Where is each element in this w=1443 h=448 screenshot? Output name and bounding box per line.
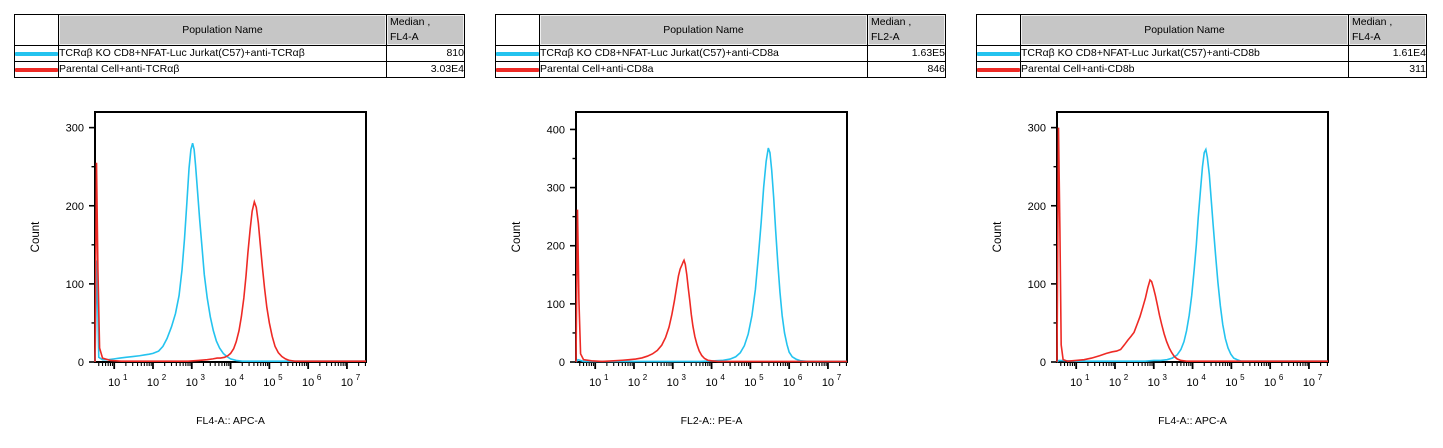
legend-table-container-2: Population Name Median , FL2-A TCRαβ KO … [495, 14, 946, 78]
color-swatch-red [977, 68, 1020, 72]
y-axis-title: Count [511, 221, 523, 252]
legend-median-value: 1.61E4 [1349, 46, 1427, 62]
x-axis-tick-exponent: 4 [720, 373, 725, 382]
histogram-trace [95, 163, 366, 362]
x-axis-tick-exponent: 7 [356, 373, 361, 382]
legend-header-median: Median , FL4-A [1349, 15, 1427, 46]
x-axis-tick-exponent: 2 [162, 373, 167, 382]
legend-row-red: Parental Cell+anti-CD8a 846 [496, 62, 946, 78]
legend-swatch-cell [15, 62, 59, 78]
x-axis-tick-label: 10 [302, 377, 314, 389]
legend-header-population: Population Name [59, 15, 387, 46]
legend-swatch-cell [15, 46, 59, 62]
color-swatch-cyan [977, 52, 1020, 56]
histogram-trace [576, 148, 847, 362]
x-axis-tick-exponent: 3 [682, 373, 687, 382]
plot-frame [1057, 112, 1328, 362]
x-axis-tick-exponent: 5 [1240, 373, 1245, 382]
y-axis-tick-label: 200 [547, 241, 565, 253]
histogram-svg-2: 0100200300400101102103104105106107CountF… [481, 104, 962, 448]
legend-header-row: Population Name Median , FL4-A [15, 15, 465, 46]
legend-population-name: Parental Cell+anti-CD8b [1021, 62, 1349, 78]
median-header-line2: FL2-A [871, 30, 945, 45]
legend-median-value: 846 [868, 62, 946, 78]
median-header-line1: Median , [1352, 16, 1392, 28]
y-axis-tick-label: 0 [78, 357, 84, 369]
y-axis-tick-label: 0 [559, 357, 565, 369]
x-axis-tick-exponent: 5 [759, 373, 764, 382]
legend-median-value: 1.63E5 [868, 46, 946, 62]
histogram-svg-3: 0100200300101102103104105106107CountFL4-… [962, 104, 1443, 448]
plot-frame [95, 112, 366, 362]
plot-area-2: 0100200300400101102103104105106107CountF… [481, 104, 962, 448]
histogram-trace [576, 210, 847, 362]
y-axis-tick-label: 100 [547, 299, 565, 311]
x-axis-tick-label: 10 [1186, 377, 1198, 389]
median-header-line2: FL4-A [390, 30, 464, 45]
color-swatch-red [15, 68, 58, 72]
legend-row-red: Parental Cell+anti-TCRαβ 3.03E4 [15, 62, 465, 78]
legend-header-population: Population Name [540, 15, 868, 46]
color-swatch-cyan [496, 52, 539, 56]
flow-cytometry-figure: Population Name Median , FL4-A TCRαβ KO … [0, 0, 1443, 448]
histogram-svg-1: 0100200300101102103104105106107CountFL4-… [0, 104, 481, 448]
x-axis-tick-label: 10 [1109, 377, 1121, 389]
x-axis-title: FL4-A:: APC-A [1158, 415, 1227, 427]
legend-median-value: 810 [387, 46, 465, 62]
legend-header-swatch [496, 15, 540, 46]
x-axis-tick-label: 10 [589, 377, 601, 389]
x-axis-tick-label: 10 [341, 377, 353, 389]
x-axis-tick-exponent: 2 [643, 373, 648, 382]
x-axis-tick-label: 10 [822, 377, 834, 389]
x-axis-tick-exponent: 3 [1163, 373, 1168, 382]
y-axis-tick-label: 300 [66, 123, 84, 135]
legend-table-1: Population Name Median , FL4-A TCRαβ KO … [14, 14, 465, 78]
x-axis-tick-exponent: 1 [604, 373, 609, 382]
x-axis-tick-label: 10 [1070, 377, 1082, 389]
y-axis-tick-label: 300 [547, 183, 565, 195]
legend-header-median: Median , FL4-A [387, 15, 465, 46]
x-axis-tick-label: 10 [263, 377, 275, 389]
legend-header-median: Median , FL2-A [868, 15, 946, 46]
legend-row-cyan: TCRαβ KO CD8+NFAT-Luc Jurkat(C57)+anti-T… [15, 46, 465, 62]
x-axis-tick-label: 10 [1225, 377, 1237, 389]
legend-table-container-1: Population Name Median , FL4-A TCRαβ KO … [14, 14, 465, 78]
legend-swatch-cell [496, 46, 540, 62]
x-axis-tick-exponent: 7 [837, 373, 842, 382]
legend-row-cyan: TCRαβ KO CD8+NFAT-Luc Jurkat(C57)+anti-C… [977, 46, 1427, 62]
y-axis-tick-label: 400 [547, 124, 565, 136]
median-header-line1: Median , [390, 16, 430, 28]
histogram-trace [1057, 128, 1328, 362]
y-axis-tick-label: 200 [1028, 201, 1046, 213]
x-axis-title: FL2-A:: PE-A [681, 415, 743, 427]
legend-swatch-cell [496, 62, 540, 78]
legend-population-name: TCRαβ KO CD8+NFAT-Luc Jurkat(C57)+anti-T… [59, 46, 387, 62]
y-axis-tick-label: 0 [1040, 357, 1046, 369]
x-axis-tick-exponent: 3 [201, 373, 206, 382]
legend-row-cyan: TCRαβ KO CD8+NFAT-Luc Jurkat(C57)+anti-C… [496, 46, 946, 62]
histogram-panel-3: Population Name Median , FL4-A TCRαβ KO … [962, 0, 1443, 448]
plot-root-2: 0100200300400101102103104105106107CountF… [511, 112, 847, 427]
x-axis-tick-label: 10 [1264, 377, 1276, 389]
histogram-trace [95, 143, 366, 362]
color-swatch-cyan [15, 52, 58, 56]
legend-header-row: Population Name Median , FL4-A [977, 15, 1427, 46]
histogram-trace [1057, 150, 1328, 363]
plot-frame [576, 112, 847, 362]
legend-header-swatch [977, 15, 1021, 46]
histogram-panel-2: Population Name Median , FL2-A TCRαβ KO … [481, 0, 962, 448]
x-axis-tick-label: 10 [108, 377, 120, 389]
x-axis-tick-label: 10 [705, 377, 717, 389]
legend-population-name: Parental Cell+anti-TCRαβ [59, 62, 387, 78]
x-axis-tick-label: 10 [628, 377, 640, 389]
legend-median-value: 3.03E4 [387, 62, 465, 78]
plot-root-1: 0100200300101102103104105106107CountFL4-… [30, 112, 366, 427]
legend-population-name: Parental Cell+anti-CD8a [540, 62, 868, 78]
x-axis-tick-exponent: 4 [239, 373, 244, 382]
median-header-line2: FL4-A [1352, 30, 1426, 45]
legend-header-swatch [15, 15, 59, 46]
y-axis-tick-label: 300 [1028, 123, 1046, 135]
x-axis-title: FL4-A:: APC-A [196, 415, 265, 427]
legend-header-population: Population Name [1021, 15, 1349, 46]
legend-median-value: 311 [1349, 62, 1427, 78]
legend-header-row: Population Name Median , FL2-A [496, 15, 946, 46]
legend-swatch-cell [977, 62, 1021, 78]
x-axis-tick-exponent: 5 [278, 373, 283, 382]
histogram-panel-1: Population Name Median , FL4-A TCRαβ KO … [0, 0, 481, 448]
x-axis-tick-exponent: 1 [1085, 373, 1090, 382]
color-swatch-red [496, 68, 539, 72]
y-axis-tick-label: 100 [66, 279, 84, 291]
plot-area-1: 0100200300101102103104105106107CountFL4-… [0, 104, 481, 448]
legend-table-2: Population Name Median , FL2-A TCRαβ KO … [495, 14, 946, 78]
x-axis-tick-label: 10 [1303, 377, 1315, 389]
y-axis-title: Count [992, 221, 1004, 252]
x-axis-tick-label: 10 [186, 377, 198, 389]
x-axis-tick-exponent: 6 [798, 373, 803, 382]
median-header-line1: Median , [871, 16, 911, 28]
x-axis-tick-label: 10 [224, 377, 236, 389]
x-axis-tick-exponent: 6 [1279, 373, 1284, 382]
legend-row-red: Parental Cell+anti-CD8b 311 [977, 62, 1427, 78]
x-axis-tick-exponent: 7 [1318, 373, 1323, 382]
x-axis-tick-label: 10 [1148, 377, 1160, 389]
y-axis-title: Count [30, 221, 42, 252]
y-axis-tick-label: 100 [1028, 279, 1046, 291]
x-axis-tick-label: 10 [147, 377, 159, 389]
x-axis-tick-label: 10 [783, 377, 795, 389]
legend-table-3: Population Name Median , FL4-A TCRαβ KO … [976, 14, 1427, 78]
plot-area-3: 0100200300101102103104105106107CountFL4-… [962, 104, 1443, 448]
legend-population-name: TCRαβ KO CD8+NFAT-Luc Jurkat(C57)+anti-C… [1021, 46, 1349, 62]
x-axis-tick-exponent: 4 [1201, 373, 1206, 382]
x-axis-tick-label: 10 [744, 377, 756, 389]
legend-swatch-cell [977, 46, 1021, 62]
legend-table-container-3: Population Name Median , FL4-A TCRαβ KO … [976, 14, 1427, 78]
x-axis-tick-label: 10 [667, 377, 679, 389]
x-axis-tick-exponent: 1 [123, 373, 128, 382]
x-axis-tick-exponent: 6 [317, 373, 322, 382]
y-axis-tick-label: 200 [66, 201, 84, 213]
x-axis-tick-exponent: 2 [1124, 373, 1129, 382]
legend-population-name: TCRαβ KO CD8+NFAT-Luc Jurkat(C57)+anti-C… [540, 46, 868, 62]
plot-root-3: 0100200300101102103104105106107CountFL4-… [992, 112, 1328, 427]
